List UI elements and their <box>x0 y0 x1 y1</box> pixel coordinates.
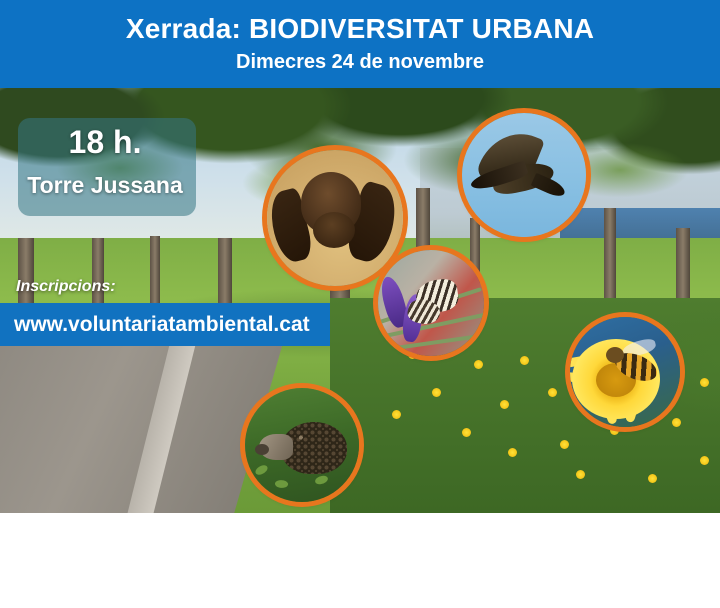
plant-stem <box>388 333 484 351</box>
yellow-flower <box>432 388 441 397</box>
hedgehog-snout <box>255 444 269 455</box>
yellow-flower <box>508 448 517 457</box>
poster-header: Xerrada: BIODIVERSITAT URBANA Dimecres 2… <box>0 0 720 88</box>
leaf <box>315 475 329 485</box>
yellow-flower <box>610 426 619 435</box>
species-photo-swift <box>462 113 586 237</box>
bee-background <box>570 317 680 427</box>
yellow-flower <box>700 456 709 465</box>
yellow-flower <box>548 388 557 397</box>
yellow-flower <box>700 378 709 387</box>
bat-head <box>313 212 355 248</box>
yellow-flower <box>500 400 509 409</box>
species-photo-bee <box>570 317 680 427</box>
poster-root: Xerrada: BIODIVERSITAT URBANA Dimecres 2… <box>0 0 720 608</box>
leaf <box>274 479 288 490</box>
species-photo-butterfly <box>378 250 484 356</box>
registration-url-band[interactable]: www.voluntariatambiental.cat <box>0 303 330 346</box>
yellow-flower <box>576 470 585 479</box>
event-venue: Torre Jussana <box>0 172 210 199</box>
yellow-flower <box>474 360 483 369</box>
bee-head <box>606 347 624 363</box>
butterfly-background <box>378 250 484 356</box>
page-title: Xerrada: BIODIVERSITAT URBANA <box>126 14 594 43</box>
hedgehog-background <box>245 388 359 502</box>
event-time: 18 h. <box>0 124 210 161</box>
yellow-flower <box>520 356 529 365</box>
leaf <box>254 464 269 476</box>
registration-label: Inscripcions: <box>16 278 116 296</box>
yellow-flower <box>462 428 471 437</box>
swift-sky-background <box>462 113 586 237</box>
yellow-flower <box>392 410 401 419</box>
event-date: Dimecres 24 de novembre <box>236 51 484 74</box>
species-photo-hedgehog <box>245 388 359 502</box>
yellow-flower <box>648 474 657 483</box>
yellow-flower <box>560 440 569 449</box>
registration-url[interactable]: www.voluntariatambiental.cat <box>14 313 310 337</box>
logo-footer <box>0 513 720 608</box>
